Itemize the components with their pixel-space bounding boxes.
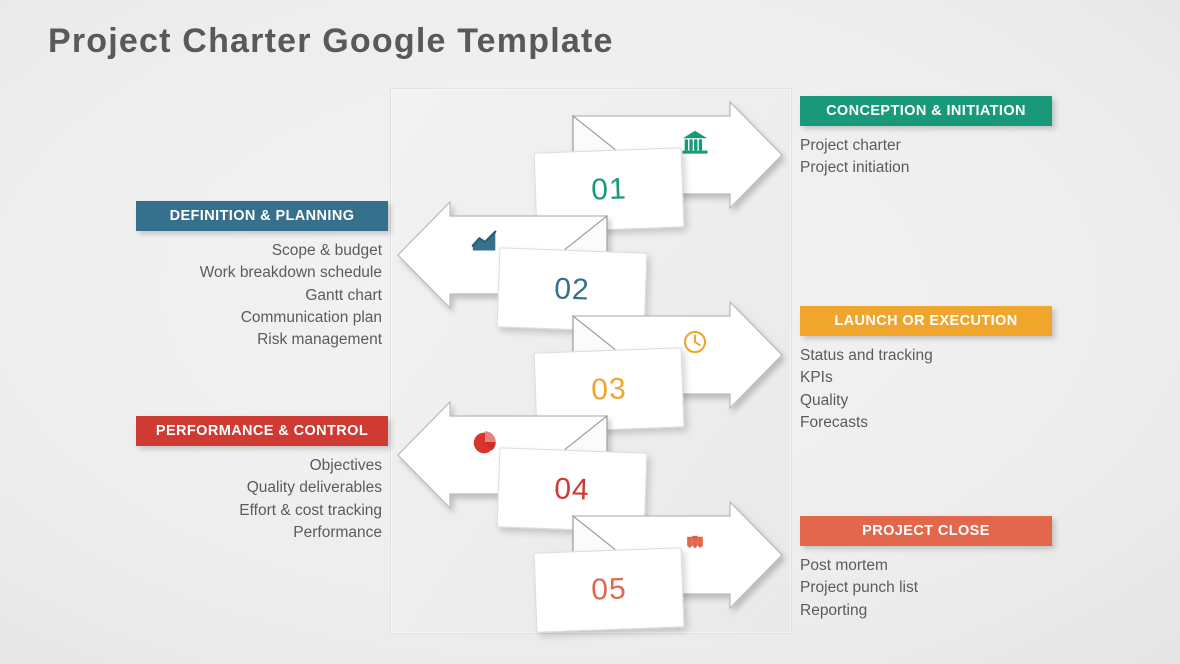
- block-header-launch: LAUNCH OR EXECUTION: [800, 306, 1052, 336]
- list-item: Project punch list: [800, 577, 1052, 599]
- block-header-definition: DEFINITION & PLANNING: [136, 201, 388, 231]
- list-item: Scope & budget: [136, 240, 382, 262]
- list-item: Reporting: [800, 600, 1052, 622]
- list-item: Quality deliverables: [136, 477, 382, 499]
- list-item: Status and tracking: [800, 345, 1052, 367]
- block-items-launch: Status and tracking KPIs Quality Forecas…: [792, 345, 1052, 434]
- list-item: Gantt chart: [136, 285, 382, 307]
- block-header-close: PROJECT CLOSE: [800, 516, 1052, 546]
- list-item: Communication plan: [136, 307, 382, 329]
- list-item: Effort & cost tracking: [136, 500, 382, 522]
- clock-icon: [678, 325, 712, 359]
- block-close[interactable]: PROJECT CLOSE Post mortem Project punch …: [792, 516, 1052, 622]
- list-item: Forecasts: [800, 412, 1052, 434]
- block-items-performance: Objectives Quality deliverables Effort &…: [136, 455, 388, 544]
- block-performance[interactable]: PERFORMANCE & CONTROL Objectives Quality…: [136, 416, 388, 544]
- line-chart-icon: [468, 225, 502, 259]
- list-item: Risk management: [136, 329, 382, 351]
- list-item: Quality: [800, 390, 1052, 412]
- list-item: Project charter: [800, 135, 1052, 157]
- list-item: Objectives: [136, 455, 382, 477]
- block-items-definition: Scope & budget Work breakdown schedule G…: [136, 240, 388, 351]
- block-items-close: Post mortem Project punch list Reporting: [792, 555, 1052, 622]
- step-number: 05: [591, 572, 628, 607]
- pie-chart-icon: [468, 425, 502, 459]
- step-number-card: 05: [534, 547, 685, 632]
- list-item: Post mortem: [800, 555, 1052, 577]
- page-title: Project Charter Google Template: [48, 22, 614, 61]
- list-item: Project initiation: [800, 157, 1052, 179]
- block-conception[interactable]: CONCEPTION & INITIATION Project charter …: [792, 96, 1052, 180]
- list-item: Work breakdown schedule: [136, 262, 382, 284]
- block-launch[interactable]: LAUNCH OR EXECUTION Status and tracking …: [792, 306, 1052, 434]
- block-header-performance: PERFORMANCE & CONTROL: [136, 416, 388, 446]
- bank-building-icon: [678, 125, 712, 159]
- list-item: Performance: [136, 522, 382, 544]
- block-header-conception: CONCEPTION & INITIATION: [800, 96, 1052, 126]
- process-step-5[interactable]: 05: [390, 500, 790, 630]
- list-item: KPIs: [800, 367, 1052, 389]
- block-definition[interactable]: DEFINITION & PLANNING Scope & budget Wor…: [136, 201, 388, 351]
- block-items-conception: Project charter Project initiation: [792, 135, 1052, 180]
- shield-badge-icon: [678, 525, 712, 559]
